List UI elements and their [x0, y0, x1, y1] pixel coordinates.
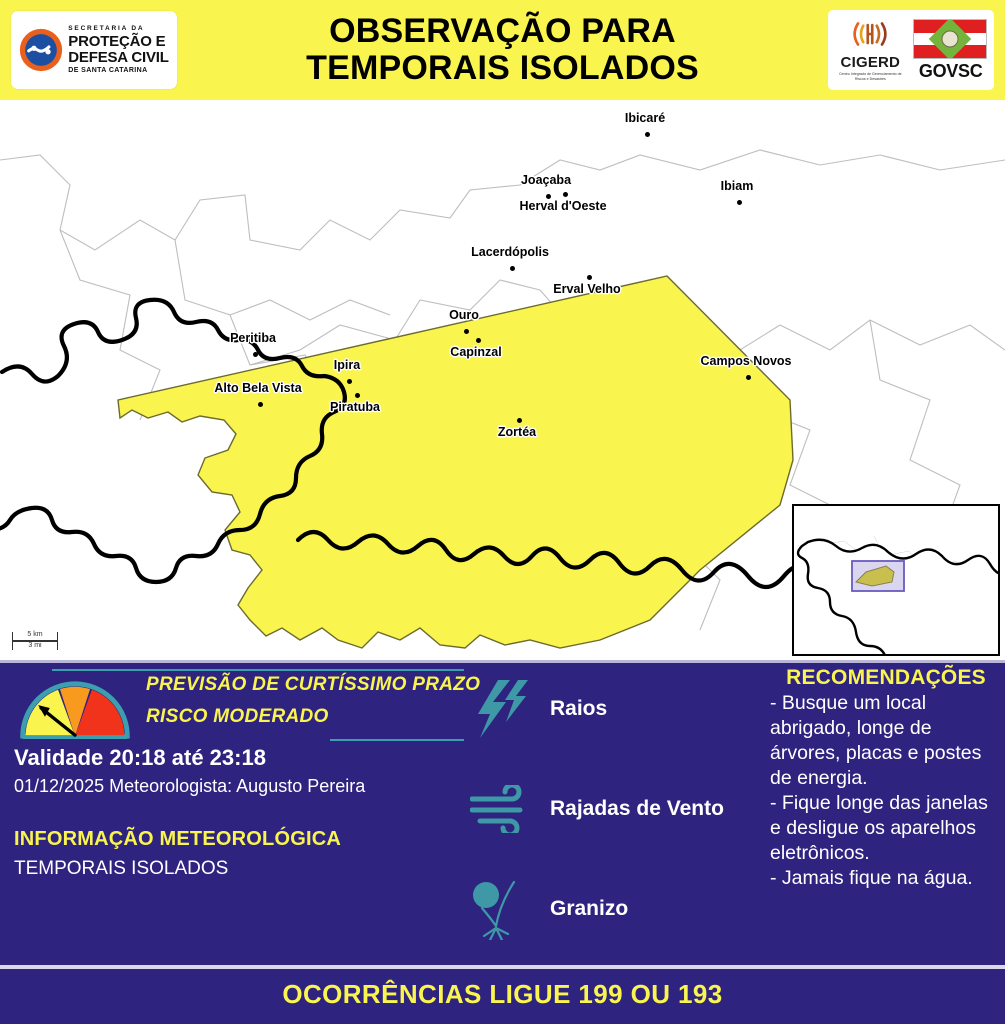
page-title: OBSERVAÇÃO PARA TEMPORAIS ISOLADOS: [177, 13, 828, 86]
govsc-logo: GOVSC: [913, 19, 989, 82]
hazard-item-rajadas-de-vento: Rajadas de Vento: [470, 778, 724, 840]
govsc-name: GOVSC: [913, 61, 989, 82]
city-dot: [587, 275, 592, 280]
defesa-civil-emblem-icon: [19, 28, 63, 72]
panel-top-divider: [0, 660, 1005, 663]
header-banner: SECRETARIA DA PROTEÇÃO E DEFESA CIVIL DE…: [0, 0, 1005, 100]
page-title-line2: TEMPORAIS ISOLADOS: [185, 50, 820, 87]
emergency-phone-text: OCORRÊNCIAS LIGUE 199 OU 193: [0, 979, 1005, 1010]
city-dot: [253, 352, 258, 357]
defesa-civil-logo-text: SECRETARIA DA PROTEÇÃO E DEFESA CIVIL DE…: [68, 26, 168, 73]
city-label: Ipira: [334, 358, 360, 372]
validity-text: Validade 20:18 até 23:18: [14, 745, 266, 771]
cigerd-logo: CIGERD Centro Integrado de Gerenciamento…: [833, 19, 907, 81]
city-label: Lacerdópolis: [471, 245, 549, 259]
inset-zoom-box: [852, 561, 904, 591]
hazard-label-granizo: Granizo: [550, 897, 628, 921]
scale-bar: 5 km 3 mi: [12, 632, 58, 650]
santa-catarina-outline: [798, 540, 998, 654]
govsc-suffix: SC: [958, 61, 982, 81]
recommendations-block: RECOMENDAÇÕES - Busque um local abrigado…: [770, 666, 1002, 891]
locator-inset-map: [792, 504, 1000, 656]
city-dot: [737, 200, 742, 205]
recommendations-title: RECOMENDAÇÕES: [770, 666, 1002, 690]
footer-divider: [0, 965, 1005, 969]
city-dot: [355, 393, 360, 398]
logo-secretaria-line: SECRETARIA DA: [68, 26, 168, 33]
hail-icon: [470, 878, 532, 940]
scale-km: 5 km: [13, 631, 57, 638]
forecast-rule-top: [52, 669, 464, 671]
city-label: Capinzal: [450, 345, 501, 359]
scale-mi: 3 mi: [13, 642, 57, 649]
page-title-line1: OBSERVAÇÃO PARA: [185, 13, 820, 50]
city-dot: [258, 402, 263, 407]
city-label: Ouro: [449, 308, 479, 322]
info-panel: PREVISÃO DE CURTÍSSIMO PRAZO RISCO MODER…: [0, 660, 1005, 965]
hazard-label-raios: Raios: [550, 697, 607, 721]
hazard-item-granizo: Granizo: [470, 878, 628, 940]
city-label: Zortéa: [498, 425, 536, 439]
city-dot: [464, 329, 469, 334]
inset-geometry: [794, 506, 998, 654]
logo-protecao-line: PROTEÇÃO E: [68, 34, 168, 50]
recommendations-body: - Busque um local abrigado, longe de árv…: [770, 691, 1002, 891]
forecast-rule-bottom: [330, 739, 464, 741]
logo-defesa-line: DEFESA CIVIL: [68, 50, 168, 66]
city-label: Piratuba: [330, 400, 380, 414]
hazard-label-rajadas: Rajadas de Vento: [550, 797, 724, 821]
alert-poster: SECRETARIA DA PROTEÇÃO E DEFESA CIVIL DE…: [0, 0, 1005, 1024]
alert-map[interactable]: IbicaréJoaçabaIbiamHerval d'OesteLacerdó…: [0, 100, 1005, 660]
city-dot: [563, 192, 568, 197]
defesa-civil-logo: SECRETARIA DA PROTEÇÃO E DEFESA CIVIL DE…: [11, 11, 177, 89]
emergency-footer: OCORRÊNCIAS LIGUE 199 OU 193: [0, 965, 1005, 1024]
city-label: Peritiba: [230, 331, 276, 345]
city-dot: [476, 338, 481, 343]
lightning-bolt-icon: [470, 678, 532, 740]
city-label: Ibicaré: [625, 111, 665, 125]
forecast-labels: PREVISÃO DE CURTÍSSIMO PRAZO RISCO MODER…: [146, 674, 462, 728]
santa-catarina-flag-icon: [913, 19, 987, 59]
city-dot: [510, 266, 515, 271]
cigerd-subtitle: Centro Integrado de Gerenciamento de Ris…: [833, 72, 907, 81]
city-label: Joaçaba: [521, 173, 571, 187]
meteo-info-heading: INFORMAÇÃO METEOROLÓGICA: [14, 828, 341, 851]
risk-level-label: RISCO MODERADO: [146, 706, 462, 728]
hazard-item-raios: Raios: [470, 678, 607, 740]
city-label: Campos Novos: [701, 354, 792, 368]
city-label: Ibiam: [721, 179, 754, 193]
meteorologist-text: 01/12/2025 Meteorologista: Augusto Perei…: [14, 776, 365, 797]
meteo-info-body: TEMPORAIS ISOLADOS: [14, 858, 228, 880]
risk-gauge-icon: [16, 678, 134, 740]
city-dot: [746, 375, 751, 380]
forecast-title: PREVISÃO DE CURTÍSSIMO PRAZO: [146, 674, 462, 696]
cigerd-name: CIGERD: [833, 54, 907, 71]
city-dot: [517, 418, 522, 423]
city-dot: [645, 132, 650, 137]
city-label: Alto Bela Vista: [214, 381, 301, 395]
govsc-prefix: GOV: [919, 61, 958, 81]
city-label: Herval d'Oeste: [519, 199, 606, 213]
city-dot: [347, 379, 352, 384]
city-label: Erval Velho: [553, 282, 620, 296]
partner-logos: CIGERD Centro Integrado de Gerenciamento…: [828, 10, 994, 90]
logo-estado-line: DE SANTA CATARINA: [68, 67, 168, 74]
cigerd-waves-icon: [847, 19, 893, 49]
wind-gust-icon: [470, 778, 532, 840]
